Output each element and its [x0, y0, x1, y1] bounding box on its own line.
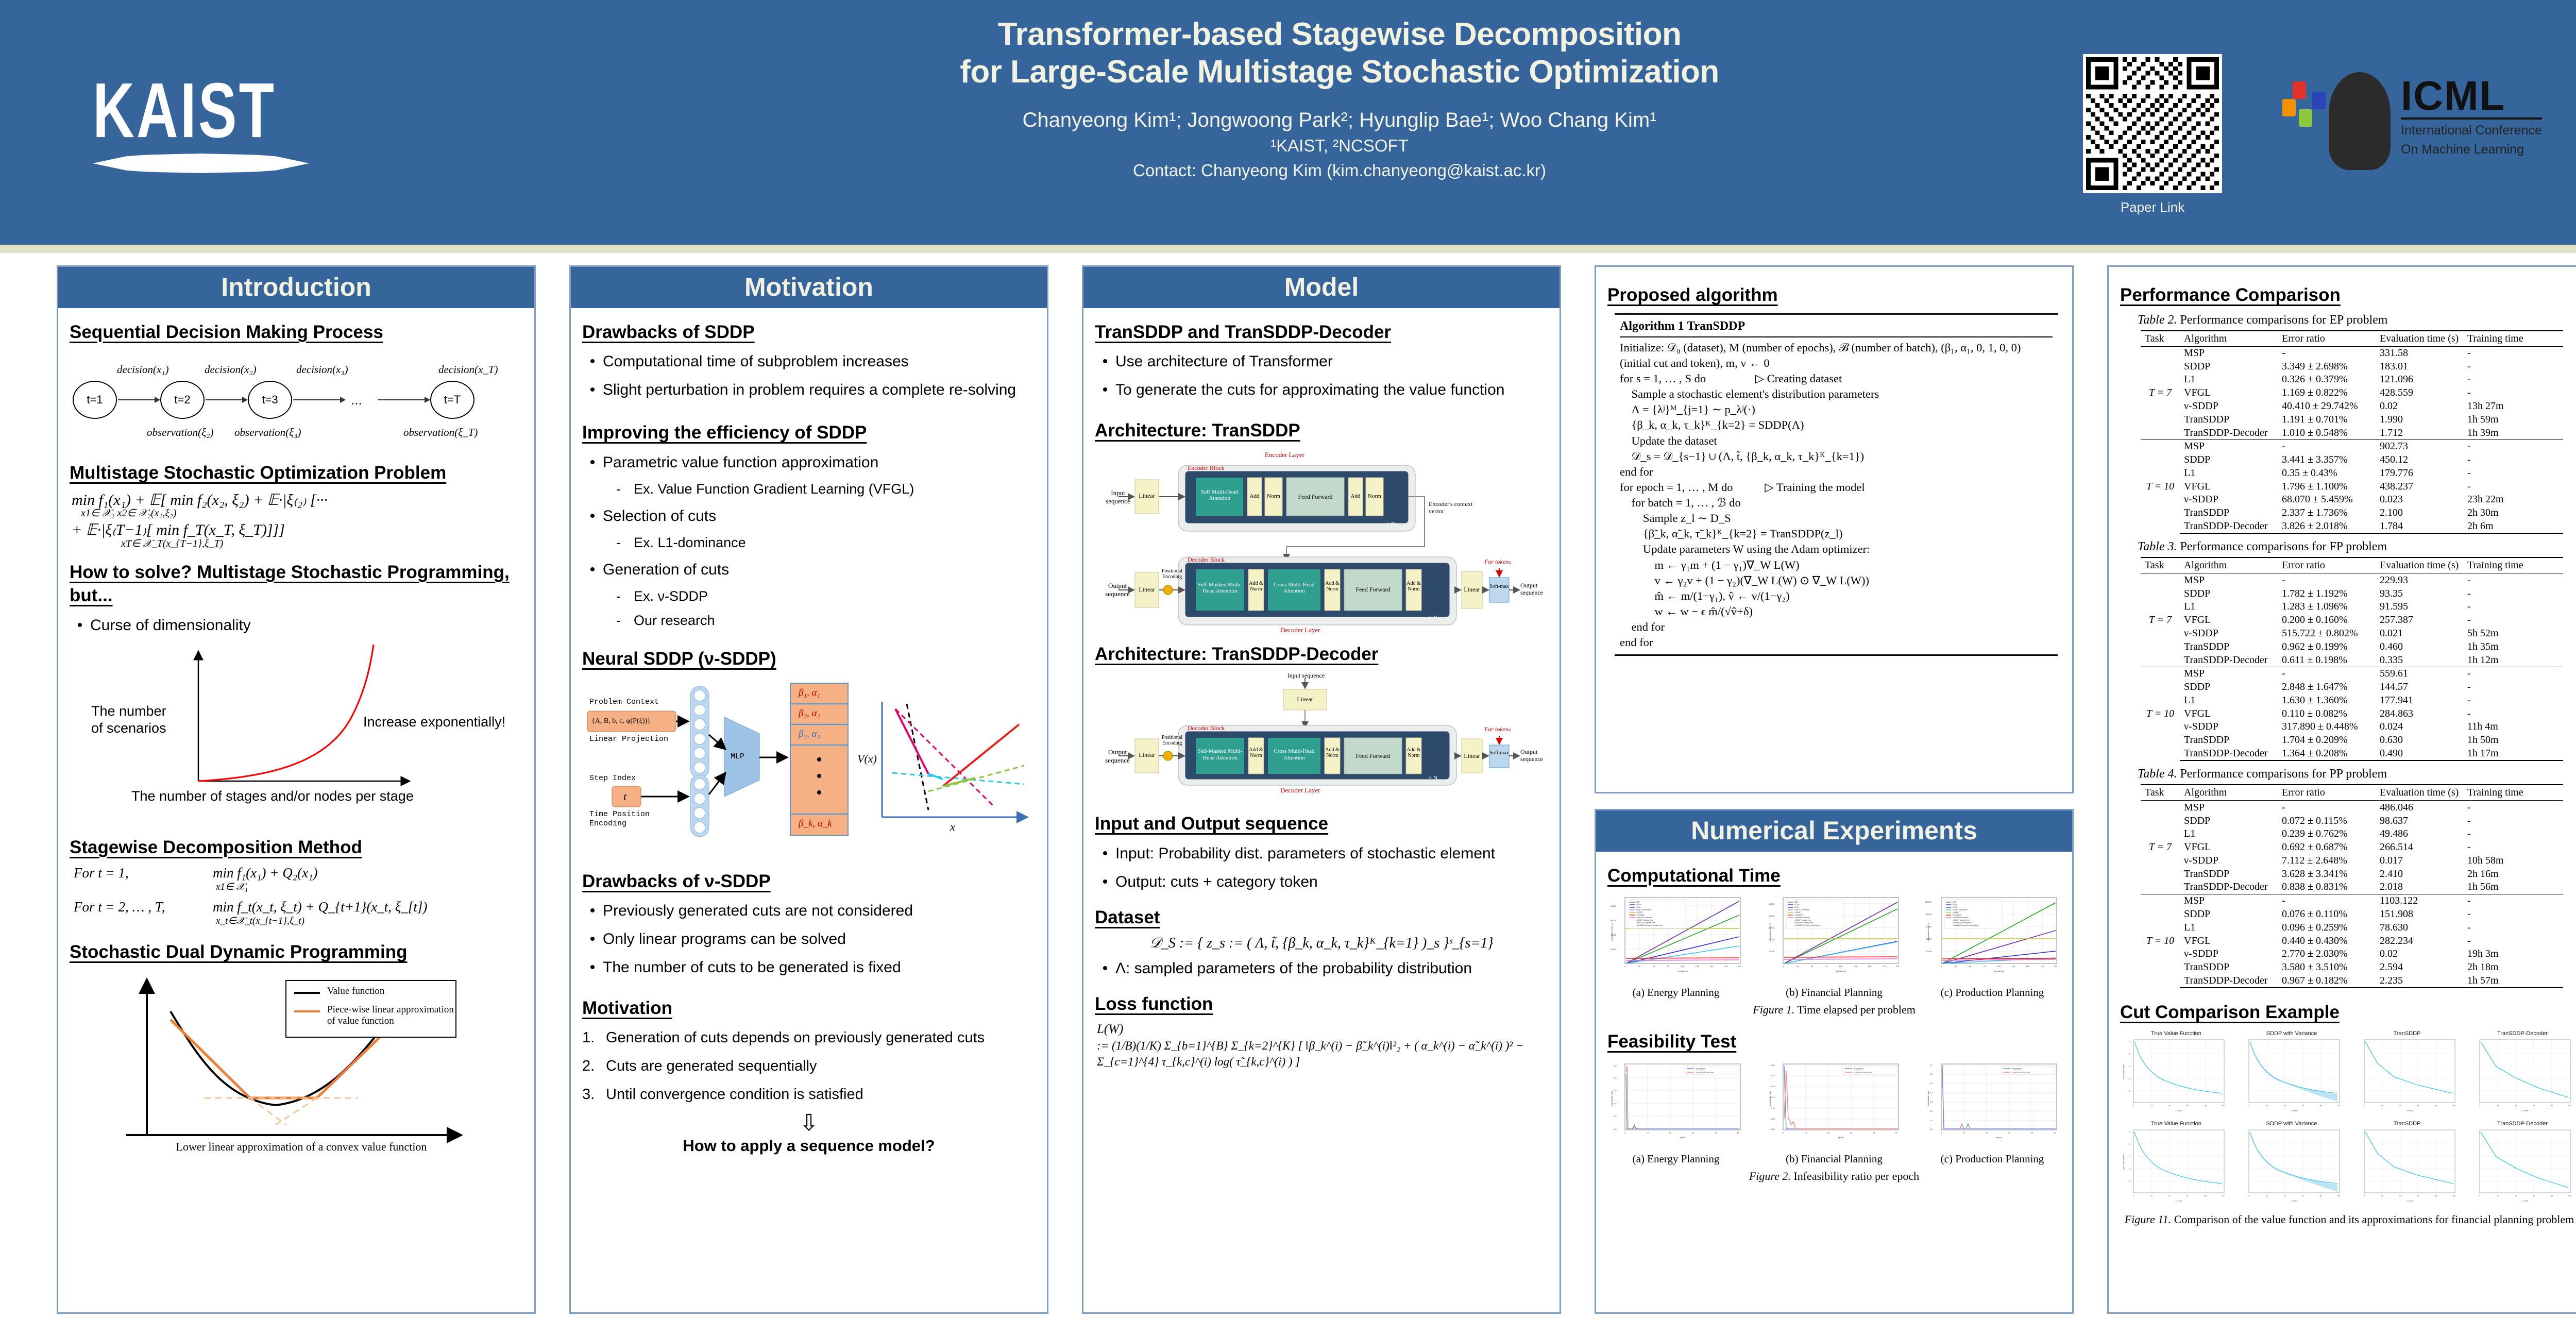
- th-eval-time: Evaluation time (s): [2376, 785, 2463, 801]
- arch2-addnorm-2: Add & Norm: [1325, 747, 1340, 758]
- arch1-positional-encoding: Positional Encoding: [1159, 568, 1185, 580]
- table-header-row: Task Algorithm Error ratio Evaluation ti…: [2141, 557, 2563, 573]
- arch1-cross-mha: Cross Multi-Head Attention: [1269, 582, 1319, 595]
- svg-text:v-SDDP: training time: v-SDDP: training time: [1953, 919, 1970, 921]
- cell-eval: 179.776: [2376, 467, 2463, 480]
- efficiency-bullet: •Parametric value function approximation: [582, 451, 1036, 474]
- cell-error: 2.848 ± 1.647%: [2278, 681, 2376, 694]
- cell-train: -: [2463, 908, 2563, 921]
- cell-eval: 0.021: [2376, 627, 2463, 640]
- svg-text:TranSDDP-Decoder: training tim: TranSDDP-Decoder: training time: [1794, 924, 1821, 926]
- cell-algorithm: TranSDDP: [2180, 867, 2278, 881]
- cell-train: 1h 39m: [2463, 426, 2563, 439]
- table-row: TranSDDP-Decoder1.010 ± 0.548%1.7121h 39…: [2141, 426, 2563, 439]
- arch2-cross-mha: Cross Multi-Head Attention: [1269, 748, 1319, 761]
- svg-text:TranSDDP: TranSDDP: [1854, 1067, 1864, 1070]
- diagram-decision-1: decision(x₁): [117, 363, 169, 376]
- cut-panel-svg: 02040 6080100 x: bond: [2351, 1127, 2459, 1205]
- figure2-caption-text: Infeasibility ratio per epoch: [1793, 1170, 1919, 1182]
- cell-error: -: [2278, 573, 2376, 587]
- cell-error: -: [2278, 801, 2376, 814]
- subsection-sddp: Stochastic Dual Dynamic Programming: [70, 940, 523, 964]
- section-header-numerical: Numerical Experiments: [1596, 810, 2072, 852]
- table-row: SDDP3.349 ± 2.698%183.01-: [2141, 360, 2563, 373]
- nsddp-cut-row-1: β₁, α₁: [799, 687, 820, 699]
- neural-sddp-figure: Problem Context {A, B, b, c, φ(P(ξ))} Li…: [582, 677, 1036, 847]
- subsection-loss-function: Loss function: [1095, 992, 1548, 1016]
- svg-text:30: 30: [1692, 1131, 1694, 1134]
- svg-text:100: 100: [2337, 1195, 2340, 1197]
- th-training-time: Training time: [2463, 331, 2563, 347]
- plot-energy-feas-svg: TranSDDPTranSDDP-Decoder 0.00.20.40.60.8…: [1607, 1060, 1744, 1148]
- nsddp-vx-label: V(x): [857, 752, 877, 766]
- svg-text:150: 150: [2026, 965, 2030, 968]
- svg-text:150: 150: [1868, 965, 1872, 968]
- nu-drawback-bullet: •Only linear programs can be solved: [582, 927, 1036, 951]
- arch2-addnorm-3: Add & Norm: [1406, 747, 1421, 758]
- curse-of-dimensionality-chart: The number of scenarios Increase exponen…: [70, 642, 523, 812]
- svg-text:epoch: epoch: [1996, 1136, 2002, 1139]
- sddp-chart-svg: [70, 970, 523, 1156]
- plot-production-time-caption: (c) Production Planning: [1924, 986, 2061, 999]
- th-task: Task: [2141, 331, 2180, 347]
- cell-error: 1.169 ± 0.822%: [2278, 386, 2376, 400]
- down-arrow-icon: ⇩: [582, 1112, 1036, 1135]
- bullet-dot: •: [1095, 957, 1115, 980]
- algorithm-line: m ← γ₁m + (1 − γ₁)∇_W L(W): [1620, 557, 2053, 573]
- svg-text:v-SDDP: v-SDDP: [1953, 911, 1959, 914]
- cut-panel-svg: 02040 6080100 x: stock: [2235, 1037, 2344, 1115]
- arch1-encoder-layer-label: Encoder Layer: [1265, 451, 1304, 459]
- cell-eval: 559.61: [2376, 667, 2463, 680]
- cell-algorithm: ν-SDDP: [2180, 400, 2278, 413]
- arch1-add-1: Add: [1247, 493, 1262, 499]
- diagram-observation-T: observation(ξ_T): [403, 426, 478, 439]
- algorithm-line: end for: [1620, 464, 2053, 480]
- diagram-decision-3: decision(x₃): [296, 363, 348, 376]
- cut-panel-title: TranSDDP: [2351, 1121, 2463, 1127]
- cell-eval: 229.93: [2376, 573, 2463, 587]
- task-cell: T = 10: [2141, 439, 2180, 533]
- cell-train: 23h 22m: [2463, 493, 2563, 506]
- bullet-dot: •: [582, 378, 603, 401]
- svg-text:20000: 20000: [1611, 948, 1617, 951]
- arch1-norm-1: Norm: [1265, 493, 1282, 499]
- svg-text:TranSDDP-Decoder: TranSDDP-Decoder: [1636, 917, 1652, 919]
- cell-error: 2.770 ± 2.030%: [2278, 948, 2376, 961]
- cell-error: 0.440 ± 0.430%: [2278, 934, 2376, 948]
- algorithm-line: Sample a stochastic element's distributi…: [1620, 386, 2053, 402]
- efficiency-text-2: Selection of cuts: [603, 504, 1036, 528]
- loss-formula-lhs: L(W): [1097, 1022, 1548, 1037]
- table-row: TranSDDP-Decoder0.967 ± 0.182%2.2351h 57…: [2141, 974, 2563, 988]
- mso-formula-sub2: xT∈ 𝒳_T(x_{T−1},ξ_T): [121, 538, 523, 549]
- svg-text:-4: -4: [2129, 1066, 2130, 1068]
- svg-text:MSP: MSP: [1636, 901, 1640, 903]
- svg-text:175: 175: [1724, 965, 1728, 968]
- table-row: TranSDDP-Decoder1.364 ± 0.208%0.4901h 17…: [2141, 747, 2563, 761]
- stagewise-line2-sub: x_t∈𝒳_t(x_{t−1},ξ_t): [216, 915, 427, 927]
- diagram-decision-2: decision(x₂): [205, 363, 257, 376]
- th-algorithm: Algorithm: [2180, 557, 2278, 573]
- cell-eval: 0.335: [2376, 653, 2463, 667]
- table4-title: Table 4. Performance comparisons for PP …: [2138, 767, 2576, 781]
- arch2-decoder-block-label: Decoder Block: [1188, 724, 1225, 732]
- cut-panel-title: SDDP with Variance: [2235, 1030, 2348, 1037]
- cell-algorithm: SDDP: [2180, 587, 2278, 600]
- svg-text:80: 80: [2551, 1195, 2553, 1197]
- arch1-output-sequence-left: Output sequence: [1100, 582, 1135, 598]
- algorithm-line: m̂ ← m/(1−γ₁), v̂ ← v/(1−γ₂): [1620, 588, 2053, 604]
- curse-ylabel-line2: of scenarios: [91, 720, 166, 737]
- cell-train: 1h 57m: [2463, 974, 2563, 988]
- cell-error: 1.364 ± 0.208%: [2278, 747, 2376, 761]
- figure2-label: Figure 2.: [1749, 1170, 1791, 1182]
- svg-text:1.0: 1.0: [1614, 1065, 1617, 1068]
- table-row: T = 10MSP-559.61-: [2141, 667, 2563, 680]
- cut-panel: TranSDDP 02040 6080100 x: stock: [2351, 1030, 2463, 1118]
- svg-text:-2: -2: [2129, 1143, 2130, 1145]
- cell-error: 3.826 ± 2.018%: [2278, 520, 2376, 534]
- svg-text:80: 80: [2435, 1195, 2437, 1197]
- transddp-arch-svg: [1095, 449, 1548, 637]
- kaist-logo: KAIST: [93, 77, 381, 175]
- cell-train: 13h 27m: [2463, 400, 2563, 413]
- svg-text:80: 80: [2205, 1195, 2207, 1197]
- svg-text:40: 40: [2031, 1131, 2033, 1134]
- arch2-xn: × N: [1429, 775, 1437, 781]
- icml-square-blue-icon: [2312, 92, 2326, 109]
- cell-algorithm: ν-SDDP: [2180, 627, 2278, 640]
- cell-eval: 93.35: [2376, 587, 2463, 600]
- accent-strip: [0, 245, 2576, 253]
- svg-text:40: 40: [2284, 1195, 2286, 1197]
- svg-text:60000: 60000: [1611, 919, 1617, 922]
- cell-error: 1.630 ± 1.360%: [2278, 694, 2376, 707]
- svg-text:TranSDDP: TranSDDP: [1636, 914, 1645, 916]
- svg-text:20: 20: [1986, 1131, 1988, 1134]
- cell-error: 515.722 ± 0.802%: [2278, 627, 2376, 640]
- dataset-formula: 𝒟_S := { z_s := ( Λ, t̃, {β_k, α_k, τ_k}…: [1095, 935, 1548, 952]
- svg-text:150: 150: [1710, 965, 1714, 968]
- svg-text:60: 60: [2533, 1195, 2535, 1197]
- subsection-proposed-algorithm: Proposed algorithm: [1607, 283, 2061, 307]
- svg-text:20: 20: [2150, 1195, 2153, 1197]
- subsection-performance-comparison: Performance Comparison: [2120, 283, 2576, 307]
- cut-panel: SDDP with Variance 02040 6080100 x: stoc…: [2235, 1030, 2348, 1118]
- nu-drawback-bullet: •Previously generated cuts are not consi…: [582, 899, 1036, 922]
- cell-algorithm: MSP: [2180, 346, 2278, 360]
- svg-text:x: stock: x: stock: [2406, 1110, 2413, 1112]
- dataset-bullet-text: Λ: sampled parameters of the probability…: [1115, 957, 1548, 980]
- cell-algorithm: TranSDDP-Decoder: [2180, 974, 2278, 988]
- algorithm-line: for batch = 1, … , ℬ do: [1620, 495, 2053, 511]
- icml-square-red-icon: [2293, 81, 2306, 99]
- table-row: T = 7MSP-331.58-: [2141, 346, 2563, 360]
- cell-eval: 2.594: [2376, 961, 2463, 974]
- cell-train: -: [2463, 681, 2563, 694]
- task-cell: T = 7: [2141, 346, 2180, 439]
- cell-train: 1h 59m: [2463, 413, 2563, 426]
- arch1-feedforward-enc: Feed Forward: [1287, 493, 1343, 501]
- cell-algorithm: L1: [2180, 921, 2278, 934]
- arch2-linear-top: Linear: [1283, 696, 1327, 703]
- svg-text:125: 125: [1854, 965, 1857, 968]
- table3-caption: Performance comparisons for FP problem: [2180, 540, 2387, 553]
- svg-text:30: 30: [1850, 1131, 1853, 1134]
- arch1-decoder-block-label: Decoder Block: [1188, 556, 1225, 564]
- table-header-row: Task Algorithm Error ratio Evaluation ti…: [2141, 331, 2563, 347]
- svg-text:75: 75: [1984, 965, 1986, 968]
- table3-title: Table 3. Performance comparisons for FP …: [2138, 540, 2576, 554]
- mso-formula: min f₁(x₁) + 𝔼[ min f₂(x₂, ξ₂) + 𝔼·|ξ₍₂₎…: [72, 492, 523, 549]
- table-row: VFGL0.440 ± 0.430%282.234-: [2141, 934, 2563, 948]
- cell-train: 1h 17m: [2463, 747, 2563, 761]
- curse-xlabel: The number of stages and/or nodes per st…: [131, 788, 414, 804]
- cell-eval: 0.023: [2376, 493, 2463, 506]
- svg-text:0: 0: [2133, 1195, 2134, 1197]
- arch2-addnorm-1: Add & Norm: [1248, 747, 1264, 758]
- section-header-introduction: Introduction: [58, 267, 534, 308]
- efficiency-sub-text-4: Our research: [634, 611, 715, 631]
- kaist-swoosh-icon: [93, 154, 309, 173]
- svg-text:25: 25: [1797, 965, 1799, 968]
- subsection-mso-problem: Multistage Stochastic Optimization Probl…: [70, 461, 523, 485]
- algorithm-line: w ← w − ϵ m̂/(√v̂+δ): [1620, 604, 2053, 619]
- table-row: L11.630 ± 1.360%177.941-: [2141, 694, 2563, 707]
- arch1-output-sequence-right: Output sequence: [1520, 582, 1549, 597]
- cell-error: 1.283 ± 1.096%: [2278, 600, 2376, 614]
- cell-error: 1.191 ± 0.701%: [2278, 413, 2376, 426]
- cell-error: 0.692 ± 0.687%: [2278, 841, 2376, 854]
- poster-title-line2: for Large-Scale Multistage Stochastic Op…: [773, 53, 1906, 91]
- cell-eval: 282.234: [2376, 934, 2463, 948]
- svg-text:0.6: 0.6: [1614, 1089, 1617, 1092]
- cell-algorithm: ν-SDDP: [2180, 493, 2278, 506]
- cell-eval: 1.784: [2376, 520, 2463, 534]
- cell-algorithm: SDDP: [2180, 814, 2278, 827]
- svg-text:100: 100: [2452, 1195, 2455, 1197]
- cell-train: -: [2463, 707, 2563, 720]
- svg-text:0.4: 0.4: [1930, 1091, 1933, 1094]
- svg-text:-4: -4: [2129, 1156, 2130, 1158]
- cell-eval: 177.941: [2376, 694, 2463, 707]
- cell-error: -: [2278, 667, 2376, 680]
- svg-text:0: 0: [1624, 965, 1626, 968]
- qr-code-icon[interactable]: [2083, 54, 2222, 193]
- svg-text:0.4: 0.4: [1614, 1102, 1617, 1105]
- algorithm-line: Λ = {λʲ}ᴹ_{j=1} ∼ p_λʲ(·): [1620, 402, 2053, 417]
- table-row: SDDP1.782 ± 1.192%93.35-: [2141, 587, 2563, 600]
- svg-text:x: stock: x: stock: [2176, 1110, 2182, 1112]
- svg-text:100: 100: [1681, 965, 1685, 968]
- dash-marker: -: [616, 586, 634, 606]
- table-row: VFGL1.796 ± 1.100%438.237-: [2141, 480, 2563, 493]
- cell-algorithm: MSP: [2180, 439, 2278, 453]
- svg-text:computation time (s): computation time (s): [1769, 922, 1771, 941]
- table-row: TranSDDP1.191 ± 0.701%1.9901h 59m: [2141, 413, 2563, 426]
- cell-error: 0.076 ± 0.110%: [2278, 908, 2376, 921]
- section-header-model: Model: [1083, 267, 1560, 308]
- cell-train: -: [2463, 934, 2563, 948]
- table-row: ν-SDDP7.112 ± 2.648%0.01710h 58m: [2141, 854, 2563, 868]
- cut-panel: True Value Function 0-2-4 -6-8 02040 608…: [2120, 1030, 2232, 1118]
- table-header-row: Task Algorithm Error ratio Evaluation ti…: [2141, 785, 2563, 801]
- nsddp-x-label: x: [950, 820, 955, 834]
- figure1-caption-text: Time elapsed per problem: [1797, 1003, 1916, 1016]
- motivation-numbered-text-2: Cuts are generated sequentially: [606, 1055, 817, 1077]
- svg-text:80000: 80000: [1611, 905, 1617, 907]
- efficiency-sub-text-2: Ex. L1-dominance: [634, 533, 746, 553]
- table-row: L10.35 ± 0.43%179.776-: [2141, 467, 2563, 480]
- cell-algorithm: VFGL: [2180, 614, 2278, 627]
- cell-error: 1.010 ± 0.548%: [2278, 426, 2376, 439]
- cell-train: -: [2463, 573, 2563, 587]
- arch2-feedforward: Feed Forward: [1345, 752, 1401, 760]
- nsddp-cut-row-2: β₂, α₂: [799, 708, 820, 719]
- algorithm-box: Algorithm 1 TranSDDP Initialize: 𝒟₀ (dat…: [1615, 313, 2058, 656]
- efficiency-sub: -Ex. L1-dominance: [616, 533, 1036, 553]
- svg-text:0: 0: [2248, 1195, 2249, 1197]
- algorithm-line: {β̃_k, α̃_k, τ̃_k}ᴷ_{k=2} = TranSDDP(z_l…: [1620, 526, 2053, 542]
- cell-algorithm: L1: [2180, 467, 2278, 480]
- table-fp-problem: Task Algorithm Error ratio Evaluation ti…: [2141, 557, 2563, 761]
- svg-text:40: 40: [2515, 1105, 2517, 1107]
- svg-text:10: 10: [1963, 1131, 1965, 1134]
- svg-text:infeasibility ratio: infeasibility ratio: [1927, 1091, 1929, 1106]
- th-training-time: Training time: [2463, 557, 2563, 573]
- title-block: Transformer-based Stagewise Decompositio…: [773, 15, 1906, 180]
- drawback-text-2: Slight perturbation in problem requires …: [603, 378, 1036, 401]
- table4-caption: Performance comparisons for PP problem: [2180, 767, 2387, 781]
- arch1-addnorm-1: Add & Norm: [1248, 581, 1264, 592]
- sddp-legend-1: Value function: [327, 986, 384, 997]
- subsection-sequential-decision: Sequential Decision Making Process: [70, 320, 523, 344]
- table-row: VFGL0.692 ± 0.687%266.514-: [2141, 841, 2563, 854]
- cell-eval: 91.595: [2376, 600, 2463, 614]
- svg-text:v-SDDP: training time: v-SDDP: training time: [1636, 919, 1653, 921]
- svg-text:25: 25: [1638, 965, 1641, 968]
- plot-production-time-svg: MSPSDDPVFGL Level 1 Dominancev-SDDPTranS…: [1924, 893, 2061, 982]
- cell-train: -: [2463, 439, 2563, 453]
- algorithm-line: Initialize: 𝒟₀ (dataset), M (number of e…: [1620, 340, 2053, 371]
- icml-bulb-icon: [2329, 72, 2391, 170]
- diagram-arrow-4: [378, 399, 429, 400]
- svg-text:100: 100: [2452, 1105, 2455, 1107]
- table-ep-problem: Task Algorithm Error ratio Evaluation ti…: [2141, 330, 2563, 534]
- plot-financial-feas: TranSDDPTranSDDP-Decoder 0.000.050.100.1…: [1766, 1060, 1903, 1165]
- table-row: TranSDDP3.580 ± 3.510%2.5942h 18m: [2141, 961, 2563, 974]
- paper-link-qr-block[interactable]: Paper Link: [2083, 54, 2222, 215]
- svg-text:-6: -6: [2129, 1168, 2130, 1170]
- cell-algorithm: ν-SDDP: [2180, 720, 2278, 734]
- dash-marker: -: [616, 479, 634, 499]
- drawback-text-1: Computational time of subproblem increas…: [603, 350, 1036, 373]
- svg-text:x: stock: x: stock: [2291, 1110, 2297, 1112]
- svg-text:Level 1 Dominance: Level 1 Dominance: [1953, 909, 1968, 911]
- svg-text:125: 125: [2012, 965, 2015, 968]
- nsddp-cut-row-3: β₃, α₃: [799, 729, 820, 740]
- svg-text:0: 0: [2129, 1041, 2130, 1043]
- diagram-node-t3: t=3: [248, 381, 292, 419]
- arch1-self-mha: Self Multi-Head Attention: [1197, 489, 1242, 502]
- motivation-numbered-item: 3.Until convergence condition is satisfi…: [582, 1084, 1036, 1105]
- svg-text:20: 20: [2266, 1105, 2268, 1107]
- plot-financial-time-svg: MSPSDDPVFGL Level 1 Dominancev-SDDPTranS…: [1766, 893, 1903, 982]
- svg-text:40: 40: [2284, 1105, 2286, 1107]
- cut-panel-svg: 02040 6080100 x: stock: [2351, 1037, 2459, 1115]
- svg-text:60: 60: [2417, 1195, 2419, 1197]
- svg-text:20: 20: [1669, 1131, 1672, 1134]
- cell-eval: 0.017: [2376, 854, 2463, 868]
- cell-algorithm: MSP: [2180, 801, 2278, 814]
- icml-word: ICML: [2401, 76, 2542, 120]
- list-number: 3.: [582, 1084, 606, 1105]
- efficiency-bullet: •Selection of cuts: [582, 504, 1036, 528]
- column-numerical-experiments: Numerical Experiments Computational Time: [1595, 809, 2074, 1314]
- table-row: VFGL0.200 ± 0.160%257.387-: [2141, 614, 2563, 627]
- subsection-cut-comparison: Cut Comparison Example: [2120, 1001, 2576, 1024]
- svg-text:0.0: 0.0: [1614, 1128, 1617, 1130]
- table-row: VFGL1.169 ± 0.822%428.559-: [2141, 386, 2563, 400]
- svg-text:40: 40: [2399, 1105, 2401, 1107]
- svg-text:0: 0: [1783, 1131, 1784, 1134]
- arch1-xn-dec: × N: [1429, 615, 1437, 621]
- svg-text:MSP: MSP: [1953, 901, 1957, 903]
- svg-text:x: bond: x: bond: [2176, 1200, 2182, 1202]
- th-task: Task: [2141, 557, 2180, 573]
- cut-comparison-row2: True Value Function 0-2-4 -6-8 02040 608…: [2120, 1121, 2576, 1208]
- svg-text:0: 0: [2479, 1195, 2480, 1197]
- cut-panel-title: TranSDDP: [2351, 1030, 2463, 1037]
- cell-algorithm: TranSDDP-Decoder: [2180, 881, 2278, 894]
- cell-eval: 428.559: [2376, 386, 2463, 400]
- svg-text:20: 20: [2381, 1105, 2383, 1107]
- stagewise-line1: For t = 1, min f₁(x₁) + Q₂(x₁) x1∈ 𝒳₁: [74, 865, 523, 893]
- table-row: TranSDDP3.628 ± 3.341%2.4102h 16m: [2141, 867, 2563, 881]
- arch1-decoder-layer-label: Decoder Layer: [1280, 626, 1320, 634]
- cell-algorithm: SDDP: [2180, 908, 2278, 921]
- stagewise-line1-sub: x1∈ 𝒳₁: [216, 881, 317, 893]
- arch1-norm-2: Norm: [1366, 493, 1383, 499]
- svg-text:100: 100: [2568, 1105, 2571, 1107]
- cell-train: 11h 4m: [2463, 720, 2563, 734]
- nsddp-label-mlp: MLP: [731, 752, 744, 761]
- arch1-linear-out: Linear: [1462, 586, 1482, 594]
- svg-text:20: 20: [2497, 1195, 2499, 1197]
- svg-text:TranSDDP-Decoder: TranSDDP-Decoder: [2012, 1071, 2030, 1073]
- svg-text:80: 80: [2205, 1105, 2207, 1107]
- svg-text:v-SDDP: training time: v-SDDP: training time: [1794, 919, 1811, 921]
- cut-panel-svg: 0-2-4 -6-8 02040 6080100 x: stock V(x): …: [2120, 1037, 2228, 1115]
- cut-panel-svg: 0-2-4 -6-8 02040 6080100 x: bond V(x): v…: [2120, 1127, 2228, 1205]
- cell-error: 7.112 ± 2.648%: [2278, 854, 2376, 868]
- svg-text:50: 50: [1811, 965, 1814, 968]
- cell-error: 3.580 ± 3.510%: [2278, 961, 2376, 974]
- figure11-caption-text: Comparison of the value function and its…: [2174, 1213, 2574, 1226]
- svg-text:-6: -6: [2129, 1078, 2130, 1080]
- io-bullet-text-1: Input: Probability dist. parameters of s…: [1115, 842, 1548, 865]
- cell-train: 1h 35m: [2463, 640, 2563, 653]
- subsection-dataset: Dataset: [1095, 906, 1548, 929]
- table-row: ν-SDDP317.890 ± 0.448%0.02411h 4m: [2141, 720, 2563, 734]
- plot-energy-time-svg: MSPSDDPVFGL Level 1 Dominancev-SDDPTranS…: [1607, 893, 1744, 982]
- cell-error: 2.337 ± 1.736%: [2278, 506, 2376, 520]
- drawback-bullet: •Computational time of subproblem increa…: [582, 350, 1036, 373]
- diagram-node-tT: t=T: [430, 381, 474, 419]
- cell-algorithm: VFGL: [2180, 934, 2278, 948]
- stagewise-line1-right: min f₁(x₁) + Q₂(x₁): [213, 865, 317, 881]
